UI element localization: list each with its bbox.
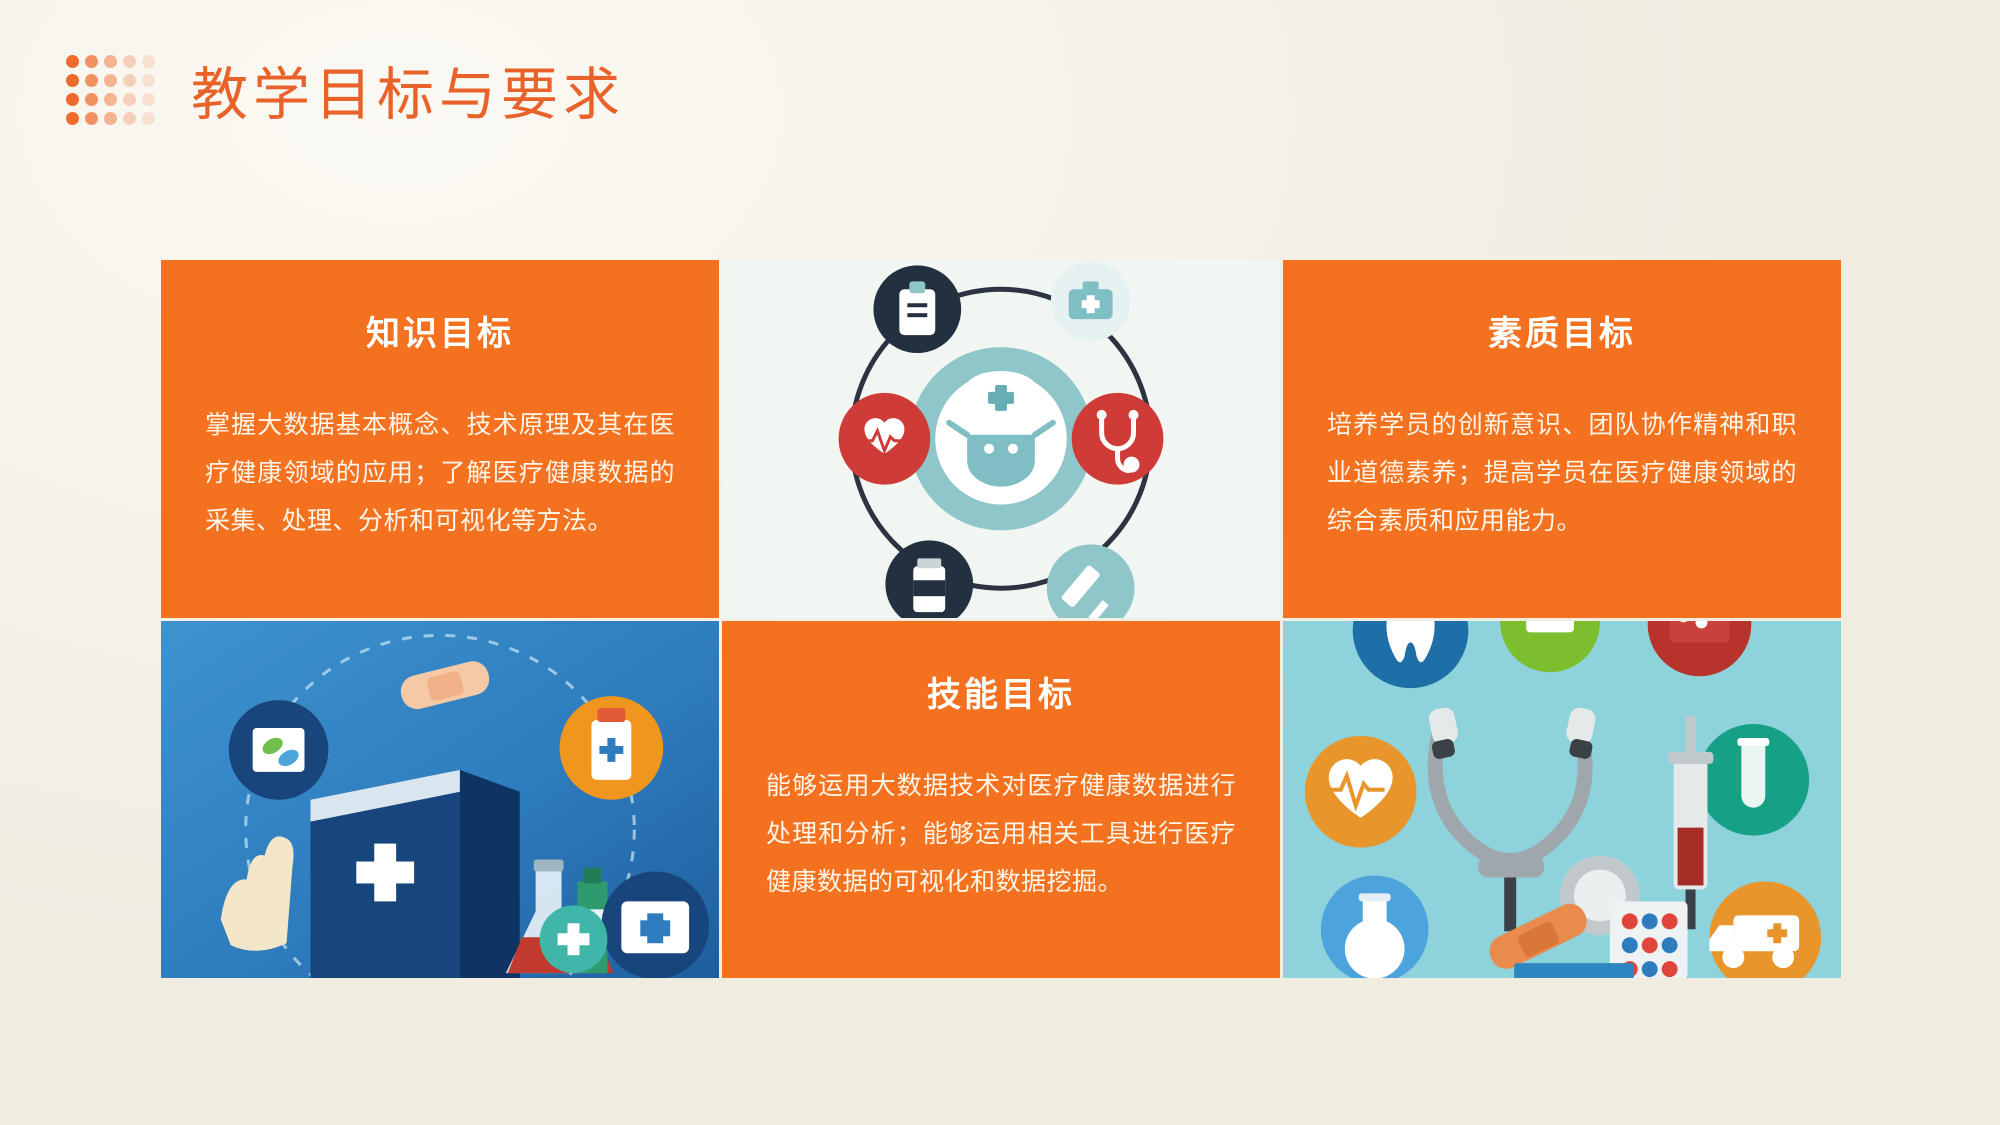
tile-knowledge-objective[interactable]: 知识目标 掌握大数据基本概念、技术原理及其在医疗健康领域的应用；了解医疗健康数据… bbox=[161, 260, 719, 618]
tile-medical-circle-illustration bbox=[722, 260, 1280, 618]
tile-medical-tools-illustration bbox=[1283, 621, 1841, 979]
tile-heading: 素质目标 bbox=[1327, 290, 1797, 355]
tile-body: 培养学员的创新意识、团队协作精神和职业道德素养；提高学员在医疗健康领域的综合素质… bbox=[1327, 401, 1797, 545]
tile-quality-objective[interactable]: 素质目标 培养学员的创新意识、团队协作精神和职业道德素养；提高学员在医疗健康领域… bbox=[1283, 260, 1841, 618]
tile-body: 掌握大数据基本概念、技术原理及其在医疗健康领域的应用；了解医疗健康数据的采集、处… bbox=[205, 401, 675, 545]
objectives-grid: 知识目标 掌握大数据基本概念、技术原理及其在医疗健康领域的应用；了解医疗健康数据… bbox=[161, 260, 1841, 978]
tile-medical-book-illustration bbox=[161, 621, 719, 979]
medical-circle-illustration-icon bbox=[722, 260, 1280, 618]
tile-heading: 技能目标 bbox=[766, 651, 1236, 716]
dot-grid-decoration-icon bbox=[66, 55, 161, 131]
tile-heading: 知识目标 bbox=[205, 290, 675, 355]
page-header: 教学目标与要求 bbox=[0, 0, 2000, 180]
medical-tools-illustration-icon bbox=[1283, 621, 1841, 979]
tile-skill-objective[interactable]: 技能目标 能够运用大数据技术对医疗健康数据进行处理和分析；能够运用相关工具进行医… bbox=[722, 621, 1280, 979]
medical-book-illustration-icon bbox=[161, 621, 719, 979]
page-title: 教学目标与要求 bbox=[191, 49, 625, 131]
tile-body: 能够运用大数据技术对医疗健康数据进行处理和分析；能够运用相关工具进行医疗健康数据… bbox=[766, 762, 1236, 906]
